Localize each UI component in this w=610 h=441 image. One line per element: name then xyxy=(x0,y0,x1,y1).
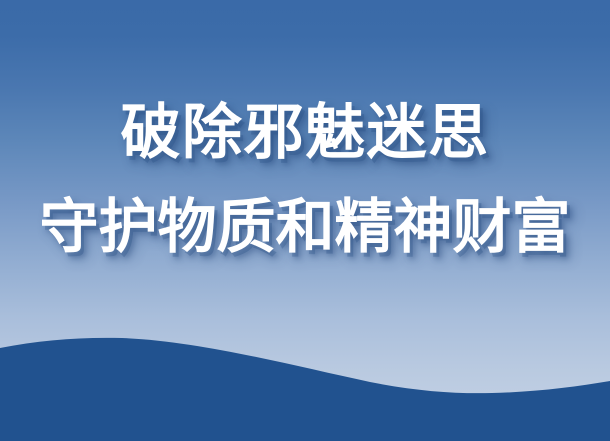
headline-block: 破除邪魅迷思 守护物质和精神财富 xyxy=(0,96,610,264)
banner-poster: 破除邪魅迷思 守护物质和精神财富 xyxy=(0,0,610,441)
headline-line-2: 守护物质和精神财富 xyxy=(0,190,610,264)
wave-shape-path xyxy=(0,338,610,441)
headline-line-1: 破除邪魅迷思 xyxy=(0,96,610,170)
